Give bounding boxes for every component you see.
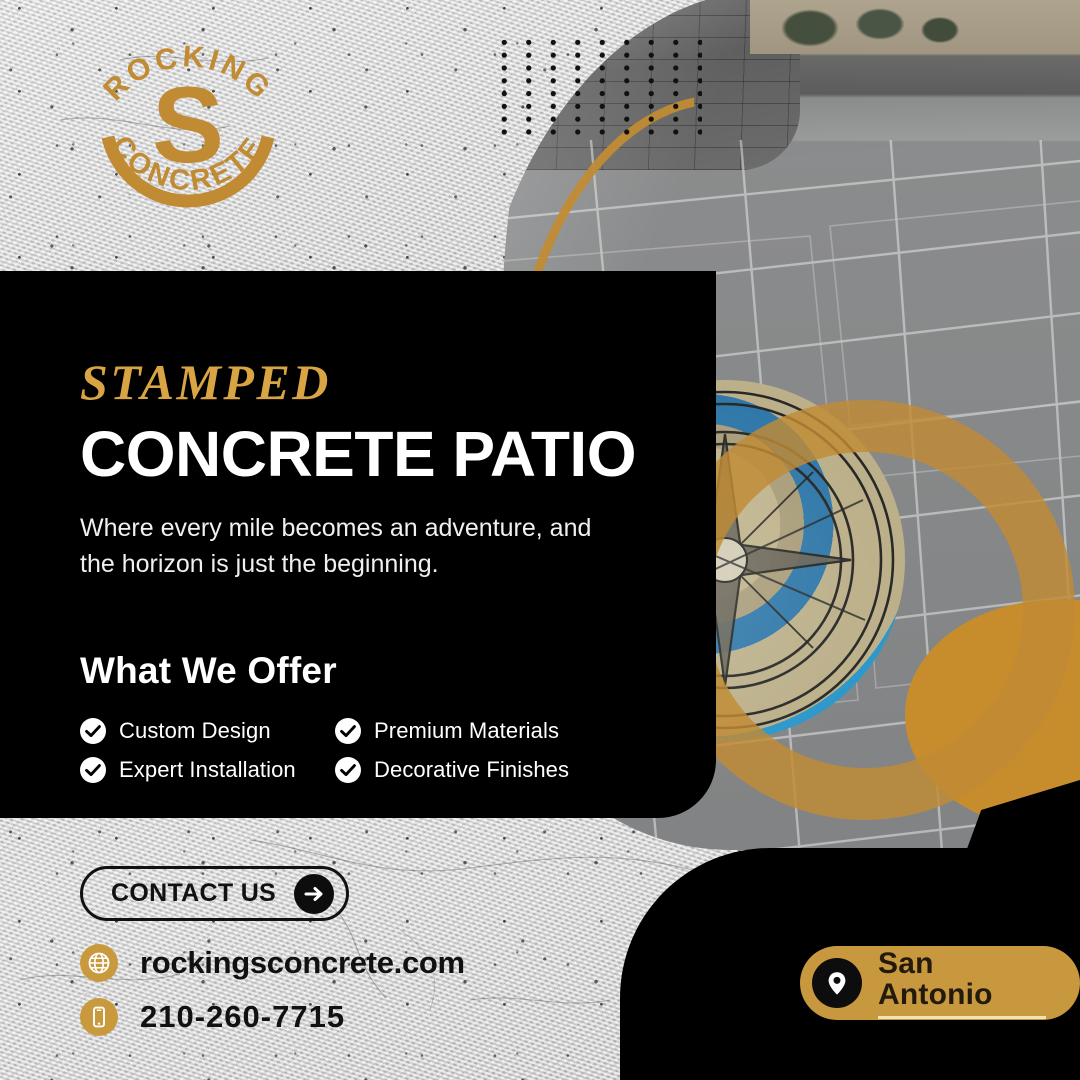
location-badge[interactable]: San Antonio xyxy=(800,946,1080,1020)
location-name: San Antonio xyxy=(878,948,1046,1019)
gold-ring-shape xyxy=(655,400,1075,820)
logo-monogram: S xyxy=(152,64,224,185)
list-item-label: Expert Installation xyxy=(119,757,296,783)
mobile-phone-icon xyxy=(80,998,118,1036)
offer-list: Custom Design Premium Materials Expert I… xyxy=(80,718,680,783)
list-item-label: Premium Materials xyxy=(374,718,559,744)
map-pin-icon xyxy=(812,958,862,1008)
website-row[interactable]: rockingsconcrete.com xyxy=(80,944,465,982)
poster-canvas: ROCKING CONCRETE S STAMPED CONCRETE PATI… xyxy=(0,0,1080,1080)
list-item: Premium Materials xyxy=(335,718,680,744)
globe-icon xyxy=(80,944,118,982)
check-circle-icon xyxy=(335,718,361,744)
check-circle-icon xyxy=(80,718,106,744)
list-item: Decorative Finishes xyxy=(335,757,680,783)
contact-us-button[interactable]: CONTACT US xyxy=(80,866,349,921)
offer-section-title: What We Offer xyxy=(80,650,680,692)
list-item: Expert Installation xyxy=(80,757,335,783)
website-label: rockingsconcrete.com xyxy=(140,945,465,981)
check-circle-icon xyxy=(335,757,361,783)
check-circle-icon xyxy=(80,757,106,783)
phone-row[interactable]: 210-260-7715 xyxy=(80,998,465,1036)
rocking-s-concrete-logo: ROCKING CONCRETE S xyxy=(78,20,298,225)
content-panel: STAMPED CONCRETE PATIO Where every mile … xyxy=(0,271,716,818)
hero-subhead: Where every mile becomes an adventure, a… xyxy=(80,510,600,583)
list-item-label: Custom Design xyxy=(119,718,271,744)
hero-eyebrow: STAMPED xyxy=(80,357,680,407)
list-item: Custom Design xyxy=(80,718,335,744)
page-title: CONCRETE PATIO xyxy=(80,421,680,488)
contact-details: rockingsconcrete.com 210-260-7715 xyxy=(80,944,465,1036)
dot-grid-pattern xyxy=(492,36,702,141)
contact-us-button-label: CONTACT US xyxy=(111,879,276,908)
phone-label: 210-260-7715 xyxy=(140,999,345,1035)
list-item-label: Decorative Finishes xyxy=(374,757,569,783)
arrow-right-icon xyxy=(294,874,334,914)
